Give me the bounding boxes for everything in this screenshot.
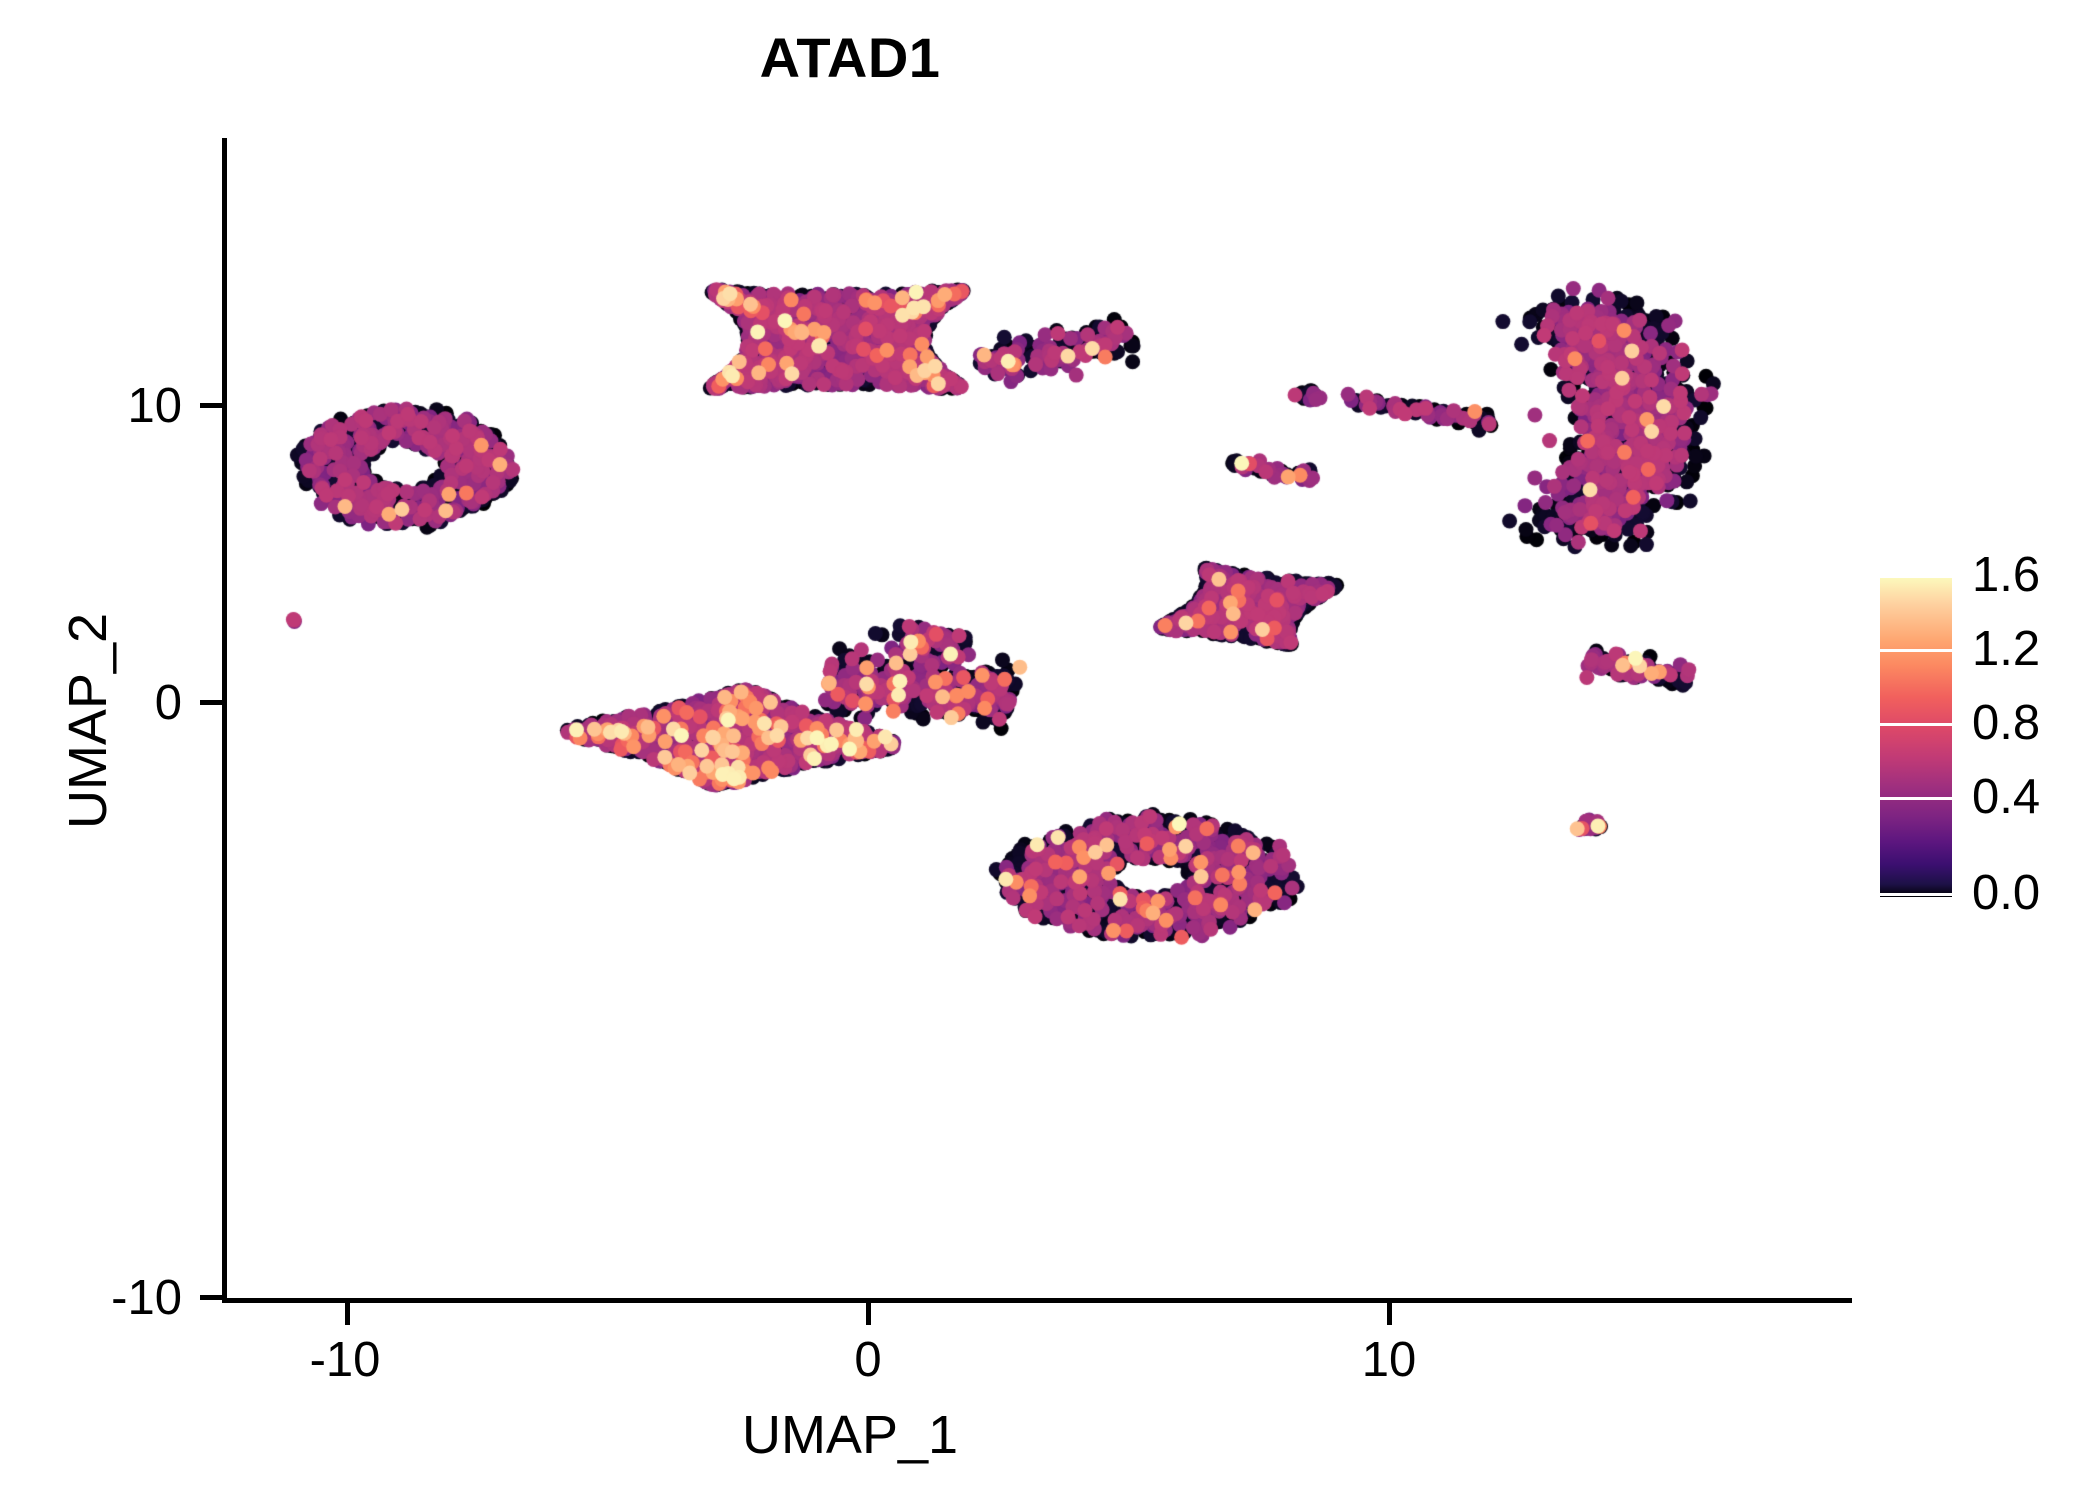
- y-tick-mark-10: [200, 403, 222, 408]
- scatter-plot-canvas: [0, 0, 2100, 1500]
- y-tick-mark-0: [200, 700, 222, 705]
- y-axis-title: UMAP_2: [57, 371, 119, 1071]
- y-axis-line: [222, 138, 227, 1303]
- umap-feature-plot: ATAD1 10 0 -10 -10 0 10 UMAP_1 UMAP_2 1.…: [0, 0, 2100, 1500]
- x-axis-title: UMAP_1: [0, 1404, 1700, 1466]
- y-tick-label-neg10: -10: [28, 1270, 182, 1326]
- colorbar-gradient: [1880, 575, 1952, 897]
- x-tick-mark-neg10: [345, 1303, 350, 1325]
- colorbar-tick-0-4: [1880, 797, 1952, 800]
- colorbar-label-0-8: 0.8: [1972, 699, 2040, 748]
- colorbar-label-0-0: 0.0: [1972, 869, 2040, 918]
- colorbar-label-1-6: 1.6: [1972, 551, 2040, 600]
- x-tick-label-10: 10: [1289, 1332, 1489, 1388]
- colorbar-tick-0-8: [1880, 723, 1952, 726]
- colorbar-label-0-4: 0.4: [1972, 773, 2040, 822]
- x-tick-mark-0: [866, 1303, 871, 1325]
- x-axis-line: [222, 1298, 1852, 1303]
- x-tick-label-0: 0: [768, 1332, 968, 1388]
- colorbar-tick-1-2: [1880, 649, 1952, 652]
- x-tick-label-neg10: -10: [245, 1332, 445, 1388]
- x-tick-mark-10: [1387, 1303, 1392, 1325]
- y-tick-mark-neg10: [200, 1295, 222, 1300]
- colorbar-tick-0-0: [1880, 893, 1952, 896]
- colorbar-tick-1-6: [1880, 575, 1952, 578]
- colorbar-label-1-2: 1.2: [1972, 625, 2040, 674]
